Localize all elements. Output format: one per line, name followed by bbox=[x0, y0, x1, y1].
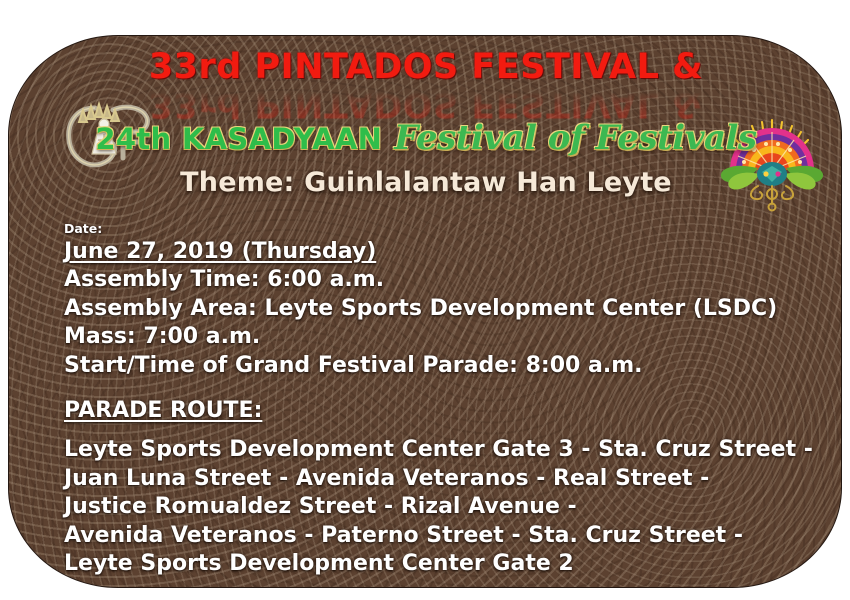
festival-title-line1: 33rd PINTADOS FESTIVAL & bbox=[9, 50, 842, 85]
route-line: Justice Romualdez Street - Rizal Avenue … bbox=[64, 493, 824, 522]
festival-title-secondary: 24th KASADYAANFestival of Festivals bbox=[9, 118, 842, 158]
route-line: Avenida Veteranos - Paterno Street - Sta… bbox=[64, 522, 824, 551]
festival-title-script: Festival of Festivals bbox=[394, 118, 756, 158]
mass-time-line: Mass: 7:00 a.m. bbox=[64, 323, 824, 352]
poster-root: 33rd PINTADOS FESTIVAL & 33rd PINTADOS F… bbox=[0, 0, 850, 600]
parade-start-time-line: Start/Time of Grand Festival Parade: 8:0… bbox=[64, 352, 824, 381]
route-line: Juan Luna Street - Avenida Veteranos - R… bbox=[64, 465, 824, 494]
poster-card: 33rd PINTADOS FESTIVAL & 33rd PINTADOS F… bbox=[8, 35, 842, 588]
route-line: Leyte Sports Development Center Gate 3 -… bbox=[64, 436, 824, 465]
assembly-area-line: Assembly Area: Leyte Sports Development … bbox=[64, 295, 824, 324]
date-label: Date: bbox=[64, 222, 824, 236]
festival-title-kasadyaan: 24th KASADYAAN bbox=[95, 122, 382, 156]
route-line: Leyte Sports Development Center Gate 2 bbox=[64, 550, 824, 579]
date-value: June 27, 2019 (Thursday) bbox=[64, 238, 824, 266]
poster-body: Date: June 27, 2019 (Thursday) Assembly … bbox=[64, 222, 824, 579]
festival-theme: Theme: Guinlalantaw Han Leyte bbox=[9, 167, 842, 198]
parade-route-list: Leyte Sports Development Center Gate 3 -… bbox=[64, 436, 824, 579]
poster-header: 33rd PINTADOS FESTIVAL & 33rd PINTADOS F… bbox=[9, 36, 842, 211]
assembly-time-line: Assembly Time: 6:00 a.m. bbox=[64, 266, 824, 295]
parade-route-heading: PARADE ROUTE: bbox=[64, 397, 824, 425]
